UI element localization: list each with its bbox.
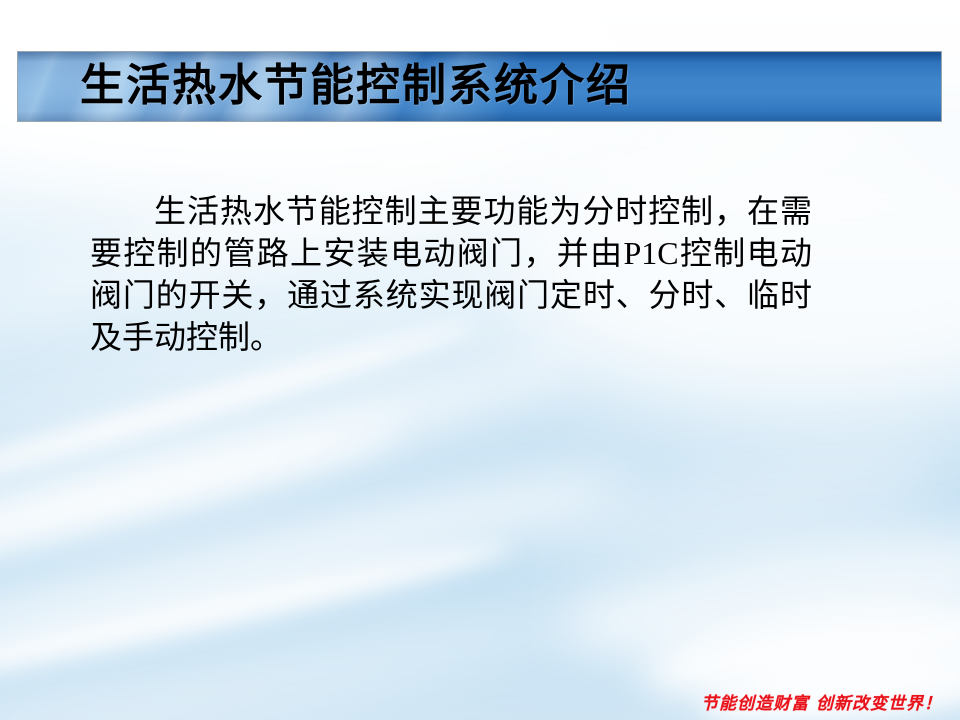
slide-title-bar: 生活热水节能控制系统介绍: [17, 51, 942, 122]
body-paragraph: 生活热水节能控制主要功能为分时控制，在需要控制的管路上安装电动阀门，并由P1C控…: [90, 190, 812, 358]
footer-slogan: 节能创造财富 创新改变世界！: [701, 689, 942, 714]
page-title: 生活热水节能控制系统介绍: [80, 64, 632, 108]
slide-canvas: 生活热水节能控制系统介绍 生活热水节能控制主要功能为分时控制，在需要控制的管路上…: [0, 0, 960, 720]
